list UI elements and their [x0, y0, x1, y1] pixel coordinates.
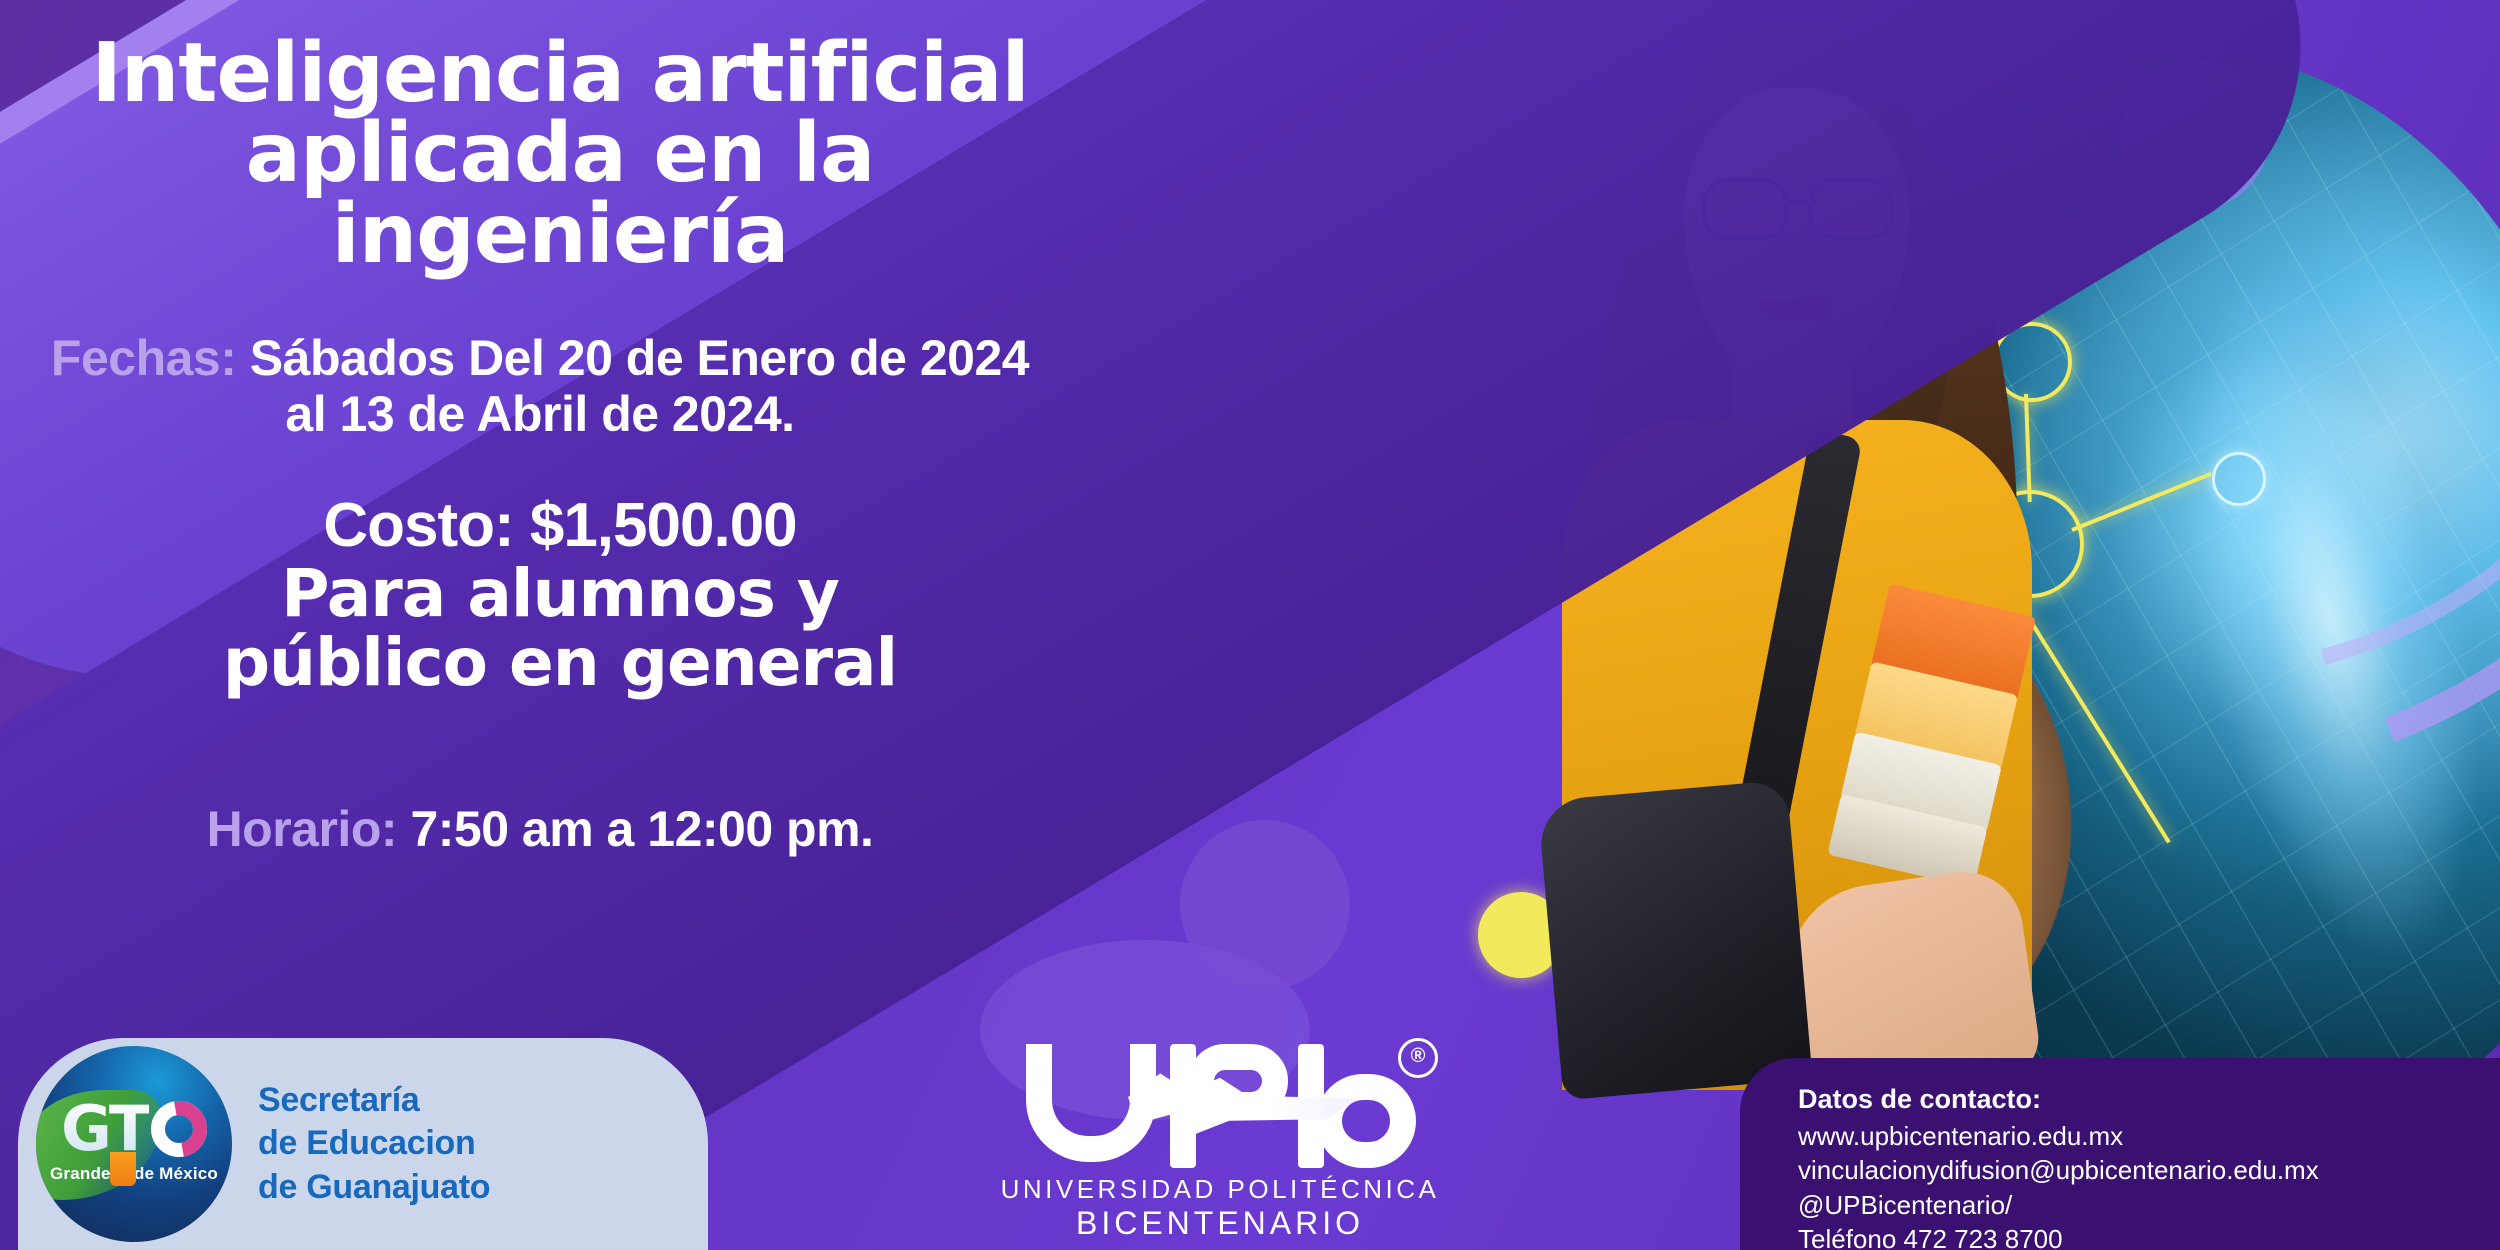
page-title: Inteligencia artificial aplicada en la i…: [60, 34, 1060, 275]
dates-label: Fechas:: [51, 330, 236, 386]
schedule-line: Horario: 7:50 am a 12:00 pm.: [40, 800, 1040, 858]
contact-phone: Teléfono 472 723 8700: [1798, 1222, 2500, 1250]
dates-block: Fechas: Sábados Del 20 de Enero de 2024 …: [40, 330, 1040, 442]
gto-letter-o-icon: [151, 1101, 207, 1157]
audience-block: Para alumnos y público en general: [60, 560, 1060, 697]
contact-email[interactable]: vinculacionydifusion@upbicentenario.edu.…: [1798, 1153, 2500, 1187]
dates-value-line-1: Sábados Del 20 de Enero de 2024: [250, 330, 1029, 386]
upb-subtitle-line-1: UNIVERSIDAD POLITÉCNICA: [1000, 1174, 1440, 1205]
schedule-label: Horario:: [207, 801, 397, 857]
dates-line-1: Fechas: Sábados Del 20 de Enero de 2024: [40, 330, 1040, 386]
contact-website[interactable]: www.upbicentenario.edu.mx: [1798, 1119, 2500, 1153]
upb-subtitle-line-2: BICENTENARIO: [1000, 1205, 1440, 1242]
gto-logo: GT Grandeza de México: [36, 1046, 232, 1242]
course-info: Inteligencia artificial aplicada en la i…: [0, 0, 1560, 1060]
promotional-banner: Inteligencia artificial aplicada en la i…: [0, 0, 2500, 1250]
government-branding: GT Grandeza de México Secretaría de Educ…: [18, 1038, 708, 1250]
contact-social[interactable]: @UPBicentenario/: [1798, 1188, 2500, 1222]
title-line-2: aplicada en la ingeniería: [60, 114, 1060, 275]
registered-trademark-icon: ®: [1398, 1038, 1438, 1078]
gto-letters-gt: GT: [61, 1098, 149, 1160]
schedule-value: 7:50 am a 12:00 pm.: [410, 801, 873, 857]
dates-value-line-2: al 13 de Abril de 2024.: [40, 386, 1040, 442]
secretaria-line-2: de Educacion: [258, 1122, 490, 1166]
secretaria-text: Secretaría de Educacion de Guanajuato: [258, 1079, 490, 1210]
gto-orange-accent-icon: [110, 1152, 136, 1186]
secretaria-line-3: de Guanajuato: [258, 1166, 490, 1210]
footer: GT Grandeza de México Secretaría de Educ…: [0, 1020, 2500, 1250]
secretaria-line-1: Secretaría: [258, 1079, 490, 1123]
contact-box: Datos de contacto: www.upbicentenario.ed…: [1740, 1058, 2500, 1250]
gto-wordmark: GT: [61, 1098, 207, 1160]
price-line: Costo: $1,500.00: [60, 490, 1060, 561]
upb-branding: ® UNIVERSIDAD POLITÉCNICA BICENTENARIO: [1000, 1044, 1440, 1242]
contact-heading: Datos de contacto:: [1798, 1084, 2500, 1115]
upb-logo: ®: [1020, 1044, 1420, 1172]
audience-line-1: Para alumnos y: [60, 560, 1060, 629]
audience-line-2: público en general: [60, 629, 1060, 698]
